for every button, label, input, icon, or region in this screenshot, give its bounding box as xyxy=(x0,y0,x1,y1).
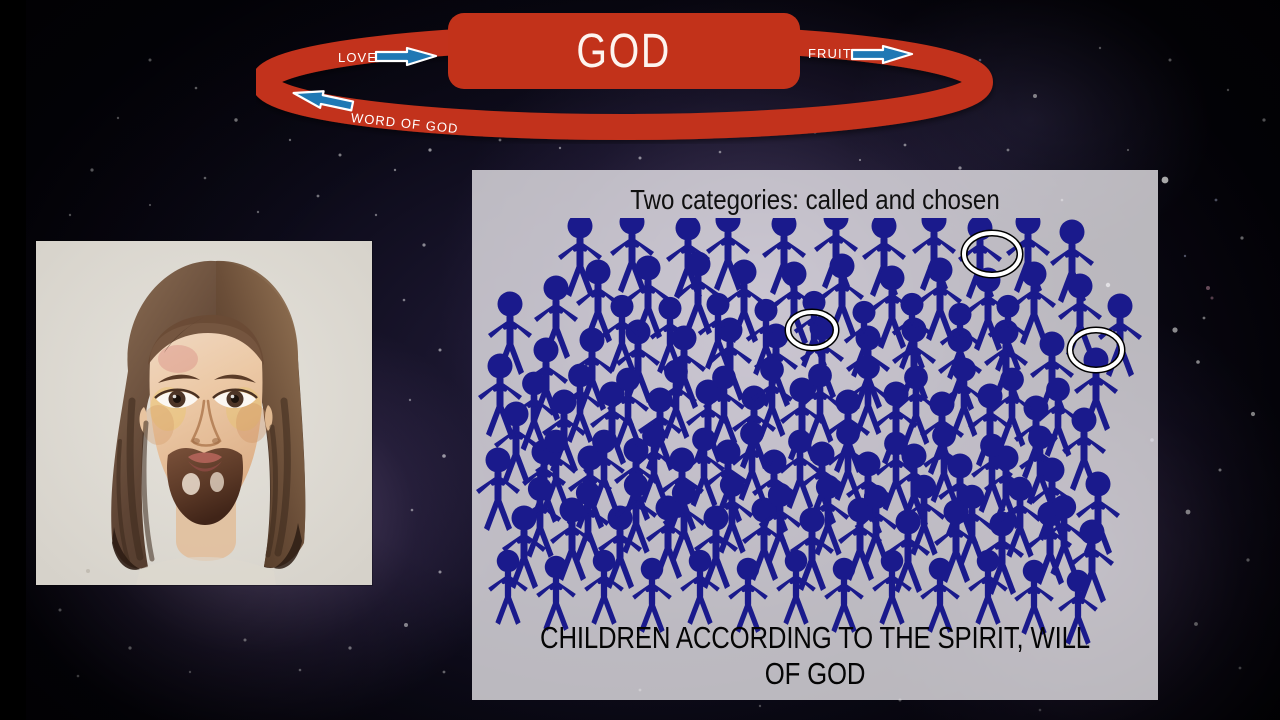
slide-canvas: LOVE FRUIT WORD OF GOD GOD xyxy=(0,0,1280,720)
crowd-panel: Two categories: called and chosen xyxy=(472,170,1158,700)
god-label: GOD xyxy=(577,24,672,79)
panel-title: Two categories: called and chosen xyxy=(520,184,1110,216)
arrow-love-left-arrow-icon xyxy=(376,48,436,65)
panel-caption: CHILDREN ACCORDING TO THE SPIRIT, WILL O… xyxy=(530,620,1099,692)
jesus-watercolor-portrait xyxy=(36,241,372,585)
stick-figure-crowd xyxy=(472,218,1158,658)
arrow-word-of-god-right-arrow-icon xyxy=(292,85,354,114)
arrow-fruit-left-arrow-icon xyxy=(852,46,912,63)
god-center-box: GOD xyxy=(448,13,800,89)
cycle-label-fruit: FRUIT xyxy=(808,46,852,61)
cycle-label-love: LOVE xyxy=(338,50,377,65)
